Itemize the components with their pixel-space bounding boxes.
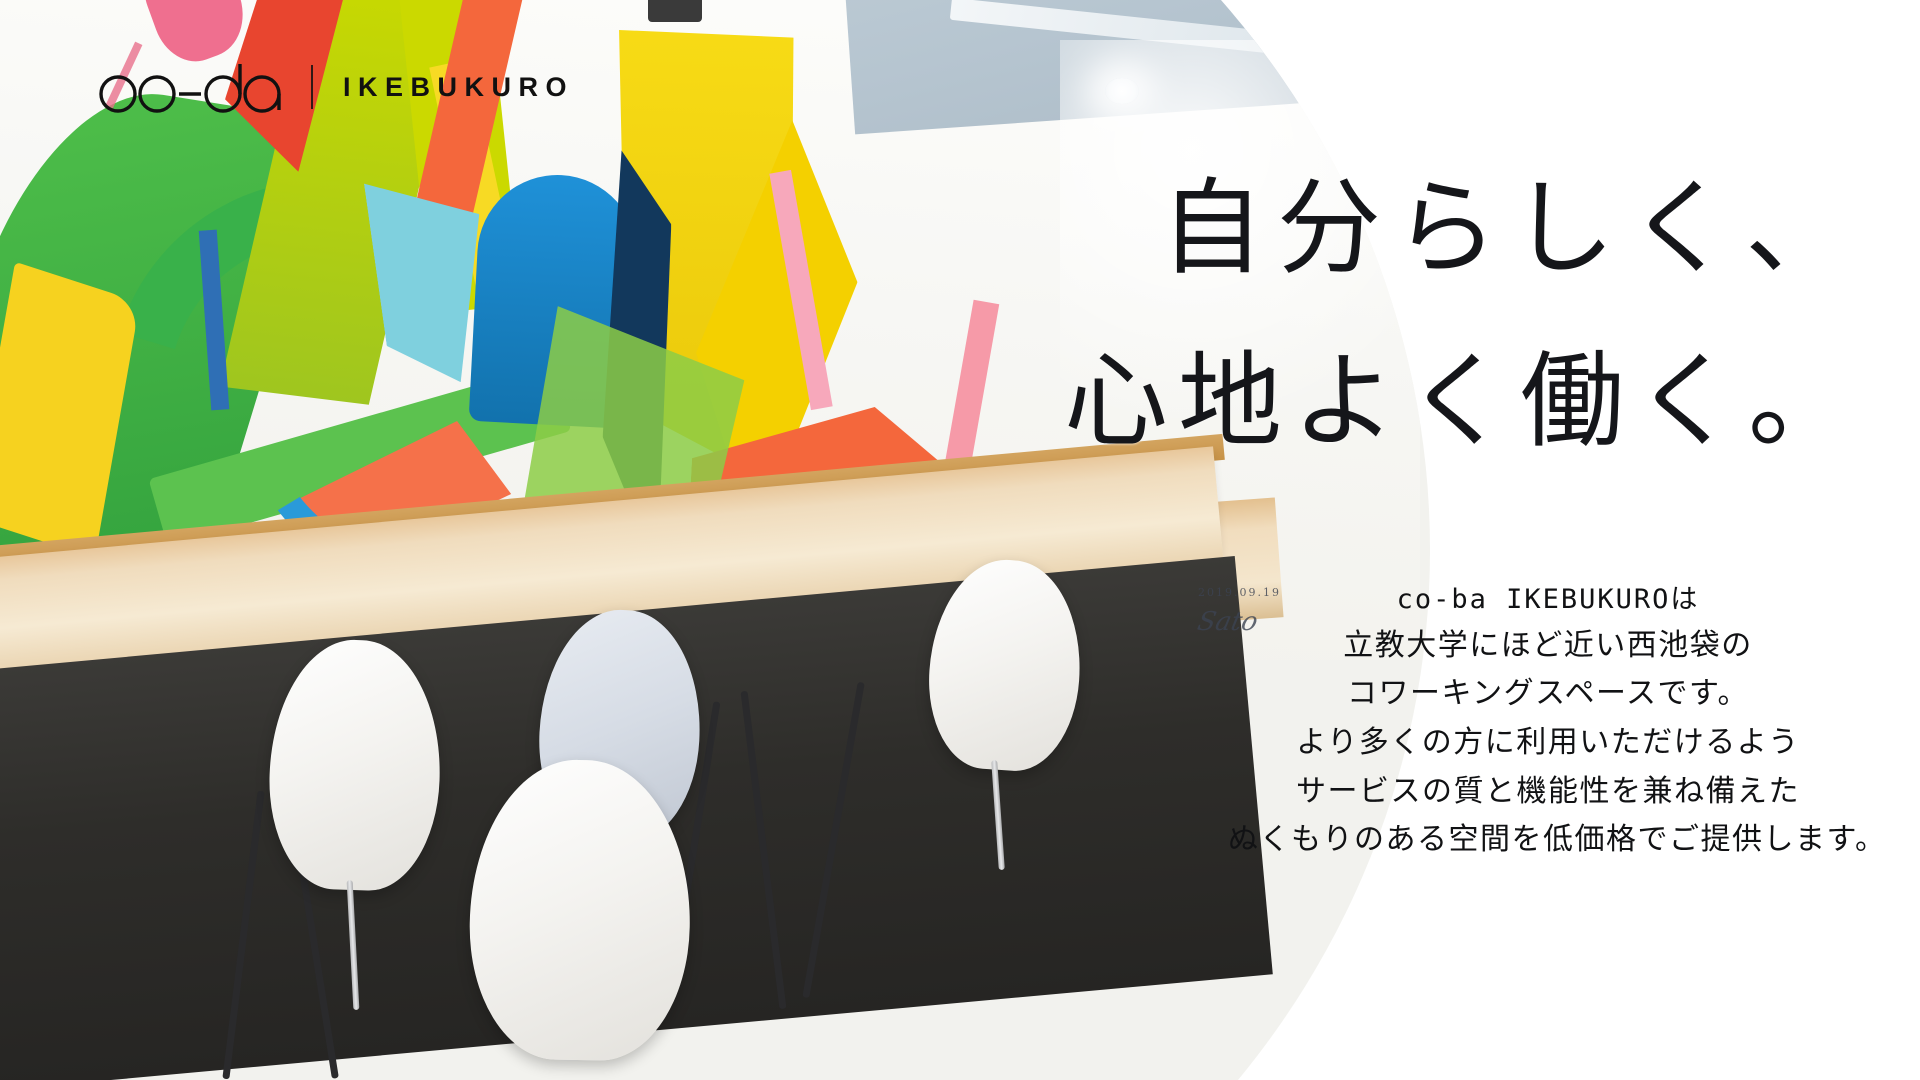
logo-divider <box>311 65 313 109</box>
description-line: 立教大学にほど近い西池袋の <box>1228 622 1868 671</box>
hero-description: co-ba IKEBUKUROは 立教大学にほど近い西池袋の コワーキングスペー… <box>1228 578 1868 865</box>
description-line: コワーキングスペースです。 <box>1228 670 1868 719</box>
brand-logo[interactable]: IKEBUKURO <box>95 60 574 114</box>
hero-banner: 2019.09.19 Sato <box>0 0 1920 1080</box>
headline-line-1: 自分らしく、 <box>1064 148 1862 309</box>
description-line: co-ba IKEBUKUROは <box>1228 578 1868 622</box>
description-line: より多くの方に利用いただけるよう <box>1228 719 1868 768</box>
logo-location-label: IKEBUKURO <box>339 74 574 101</box>
track-light-icon <box>648 0 702 22</box>
description-line: ぬくもりのある空間を低価格でご提供します。 <box>1228 816 1868 865</box>
headline-line-2: 心地よく働く。 <box>1064 321 1862 482</box>
coba-wordmark-icon <box>95 60 285 114</box>
spotlight-icon <box>1105 78 1139 104</box>
hero-headline: 自分らしく、 心地よく働く。 <box>1064 148 1862 482</box>
description-line: サービスの質と機能性を兼ね備えた <box>1228 768 1868 817</box>
